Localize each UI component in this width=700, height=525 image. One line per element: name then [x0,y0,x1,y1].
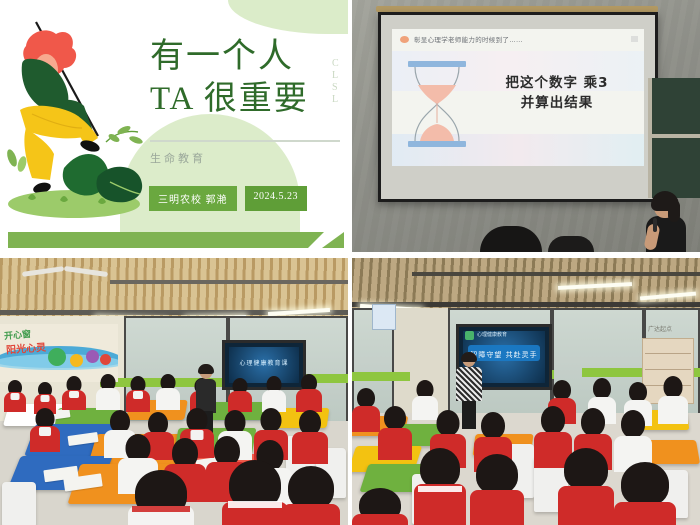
slide-main-line2: 并算出结果 [476,93,638,113]
bottom-green-bar [8,232,308,248]
student-body [96,388,120,410]
corner-leaf-shape [228,0,348,34]
student-head [541,406,565,434]
bottom-green-triangle [322,232,344,248]
student [378,406,412,460]
projection-screen-title: 心理健康教育 [477,331,507,338]
vertical-letter: L [332,94,339,106]
student-collar [39,427,51,436]
teacher-body [456,367,482,401]
slide-header-text: 彰显心理学老师能力的时候到了…… [414,34,523,44]
uniform-stripe [418,486,462,492]
uniform-stripe [132,506,190,512]
student-body [378,428,412,460]
panel-classroom-wide-photo: 开心窗 阳光心灵 心理健康教育课 [0,258,348,525]
projection-screen-text: 心理健康教育课 [225,358,303,367]
title-slide-canvas: 有一个人 TA 很重要 C L S L 生命教育 三明农校 郭滟 2024.5.… [0,0,348,252]
teacher-hair [198,364,214,374]
student-head [384,406,406,430]
fan-blade [64,266,108,277]
ceiling-beam [412,272,700,276]
vertical-letter: S [332,82,339,94]
blackboard [648,78,700,198]
vertical-letters: C L S L [332,58,339,106]
student [352,388,380,432]
hourglass-graphic [408,61,466,147]
vertical-letter: L [332,70,339,82]
mural-bubble [70,354,83,367]
student-collar [133,391,143,399]
student [4,380,26,412]
student-foreground [558,448,614,525]
panel-lecture-projector-photo: 彰显心理学老师能力的时候到了…… 把这个数字 乘3 并算出结果 [352,0,700,252]
tag-school-presenter: 三明农校 郭滟 [149,186,237,211]
person-on-swing-illustration [2,18,147,218]
student-body [658,396,688,424]
student-foreground [614,462,676,525]
student [262,376,286,412]
green-wall-stripe [352,372,410,381]
student-head [621,410,645,438]
student-collar [41,395,50,402]
student-head [629,382,647,402]
student [228,378,252,412]
wall-poster [372,304,396,330]
student-foreground [352,488,408,525]
student-head [593,378,611,399]
student-foreground [282,466,340,525]
bookshelf-label: 广达起点 [648,324,672,333]
audience-head-silhouette [548,236,594,252]
student-head [621,462,669,506]
chair [2,482,36,525]
bottom-arc-shape [120,114,300,234]
student [30,408,60,452]
student-body [296,389,322,412]
student-head [553,380,571,400]
student [96,374,120,410]
mural-bubble [48,348,66,366]
school-logo-icon [465,331,474,340]
ceiling-fan [22,262,108,280]
student-head [357,388,375,408]
student [296,374,322,412]
student-foreground [470,454,524,525]
panel-classroom-teacher-front-photo: 心理健康教育 智障守望 共赴灵手 广达起点 [352,258,700,525]
blackboard-divider [652,134,700,138]
hourglass-body [412,67,462,141]
student-head [476,454,518,494]
student-head [481,412,505,439]
microphone-icon [653,218,657,232]
student-body [558,486,614,525]
student-body [228,391,252,412]
slide-main-text: 把这个数字 乘3 并算出结果 [476,73,638,113]
classroom-scene-front: 心理健康教育 智障守望 共赴灵手 广达起点 [352,258,700,525]
speaker-with-microphone [644,194,690,252]
student [126,376,150,412]
slide-title-line1: 有一个人 [150,36,345,78]
student [292,410,328,464]
slide-corner-mark [631,36,638,42]
student [156,374,180,410]
student [658,376,688,424]
tag-date: 2024.5.23 [245,186,308,211]
fan-blade [22,266,64,277]
student-head [437,410,460,436]
speaker-hair-side [668,200,680,222]
student-foreground [128,470,194,525]
title-divider [150,140,340,142]
uniform-stripe [228,501,282,508]
student-foreground [414,448,466,525]
student-head [564,448,608,490]
mural-bubble [100,354,111,365]
student-body [156,388,180,410]
student-collar [11,393,20,400]
student-body [352,514,408,525]
student-head [261,408,282,432]
student-head [664,376,683,398]
student-body [614,502,676,525]
panel-title-slide: 有一个人 TA 很重要 C L S L 生命教育 三明农校 郭滟 2024.5.… [0,0,348,252]
ceiling-beam [110,280,348,284]
mural-text-red: 阳光心灵 [6,339,47,357]
mural-bubble [86,350,99,363]
projected-slide: 彰显心理学老师能力的时候到了…… 把这个数字 乘3 并算出结果 [392,29,644,166]
student [62,376,86,410]
slide-title-block: 有一个人 TA 很重要 [150,36,345,120]
vertical-letter: C [332,58,339,70]
slide-title-line2: TA 很重要 [150,78,345,120]
slide-tag-row: 三明农校 郭滟 2024.5.23 [149,186,307,211]
classroom-scene-wide: 开心窗 阳光心灵 心理健康教育课 [0,258,348,525]
teacher-hair [461,352,477,362]
slide-bullet-dot-icon [400,36,409,43]
slide-main-line1: 把这个数字 乘3 [476,73,638,93]
slide-subtitle: 生命教育 [150,150,206,166]
photo-collage: 有一个人 TA 很重要 C L S L 生命教育 三明农校 郭滟 2024.5.… [0,0,700,525]
student-collar [69,391,79,398]
hourglass-bottom-cap [408,141,466,147]
student-body [352,406,380,432]
student-body [470,490,524,525]
student-body [292,432,328,464]
student-body [282,504,340,525]
student-head [420,448,460,488]
student-head [581,408,605,436]
student-foreground [222,460,288,525]
